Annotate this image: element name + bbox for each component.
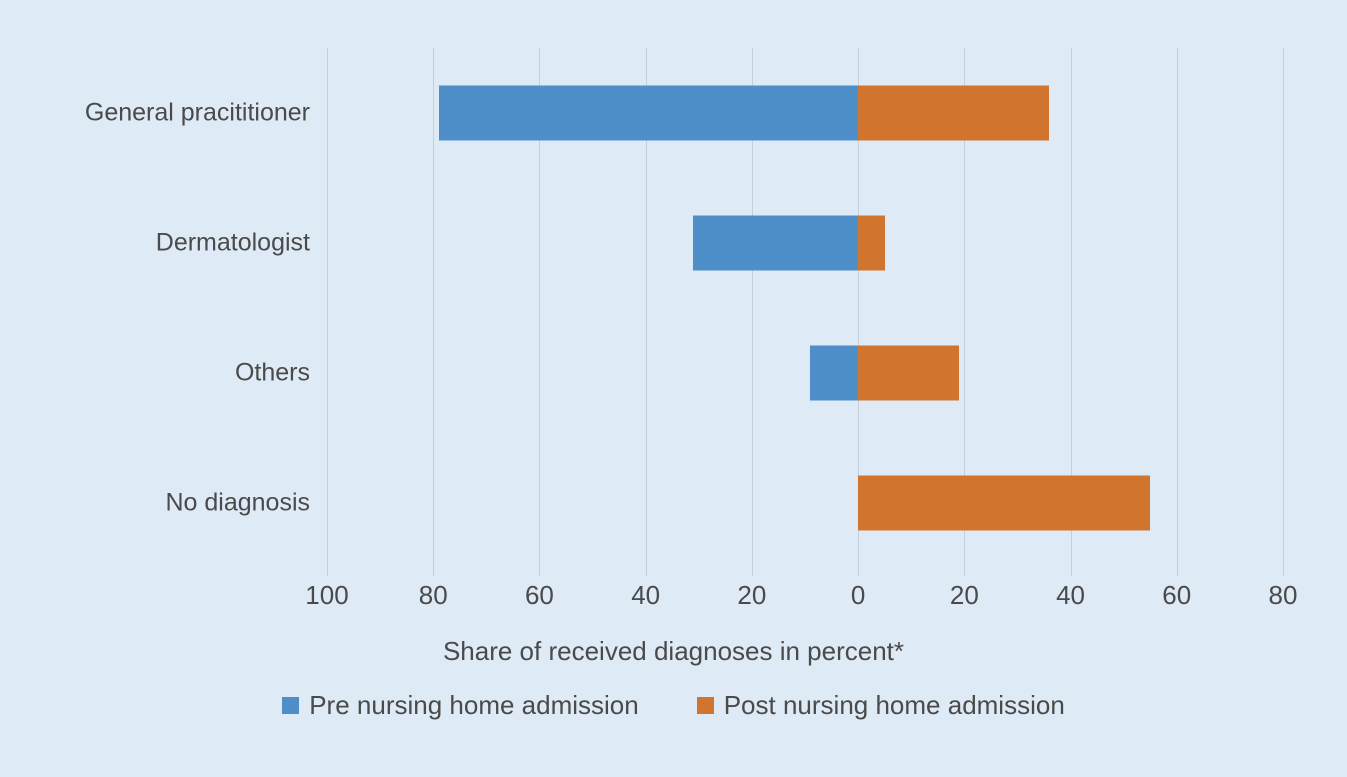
bar-group <box>327 48 1283 178</box>
category-label: Others <box>10 361 310 386</box>
legend-label: Pre nursing home admission <box>309 692 639 718</box>
bar-group <box>327 308 1283 438</box>
x-tick-mark <box>646 568 647 576</box>
legend-label: Post nursing home admission <box>724 692 1065 718</box>
x-axis-title: Share of received diagnoses in percent* <box>0 637 1347 666</box>
legend-swatch-icon <box>282 697 299 714</box>
plot-area <box>327 48 1283 568</box>
bar-segment-pre <box>439 86 859 141</box>
diverging-bar-chart: General pracititionerDermatologistOthers… <box>0 0 1347 777</box>
x-tick-label: 40 <box>631 582 660 608</box>
category-label: No diagnosis <box>10 491 310 516</box>
x-tick-label: 80 <box>419 582 448 608</box>
category-axis: General pracititionerDermatologistOthers… <box>0 48 310 568</box>
x-axis: 10080604020020406080 <box>327 568 1283 613</box>
x-tick-label: 40 <box>1056 582 1085 608</box>
bar-segment-pre <box>810 346 858 401</box>
x-tick-mark <box>964 568 965 576</box>
bar-group <box>327 438 1283 568</box>
bar-segment-post <box>858 216 885 271</box>
x-tick-mark <box>327 568 328 576</box>
x-tick-mark <box>858 568 859 576</box>
x-tick-mark <box>433 568 434 576</box>
x-tick-label: 20 <box>737 582 766 608</box>
legend-item[interactable]: Pre nursing home admission <box>282 692 639 718</box>
x-tick-label: 80 <box>1269 582 1298 608</box>
category-label: Dermatologist <box>10 231 310 256</box>
x-tick-label: 100 <box>305 582 348 608</box>
gridline <box>1283 48 1284 568</box>
bar-group <box>327 178 1283 308</box>
bar-segment-pre <box>693 216 858 271</box>
legend-item[interactable]: Post nursing home admission <box>697 692 1065 718</box>
x-tick-mark <box>1283 568 1284 576</box>
x-tick-mark <box>539 568 540 576</box>
x-tick-mark <box>752 568 753 576</box>
x-tick-mark <box>1177 568 1178 576</box>
bar-segment-post <box>858 476 1150 531</box>
x-tick-mark <box>1071 568 1072 576</box>
chart-legend: Pre nursing home admissionPost nursing h… <box>0 692 1347 718</box>
bar-segment-post <box>858 86 1049 141</box>
x-tick-label: 60 <box>1162 582 1191 608</box>
x-tick-label: 60 <box>525 582 554 608</box>
category-label: General pracititioner <box>10 101 310 126</box>
x-tick-label: 20 <box>950 582 979 608</box>
bar-segment-post <box>858 346 959 401</box>
x-tick-label: 0 <box>851 582 865 608</box>
legend-swatch-icon <box>697 697 714 714</box>
